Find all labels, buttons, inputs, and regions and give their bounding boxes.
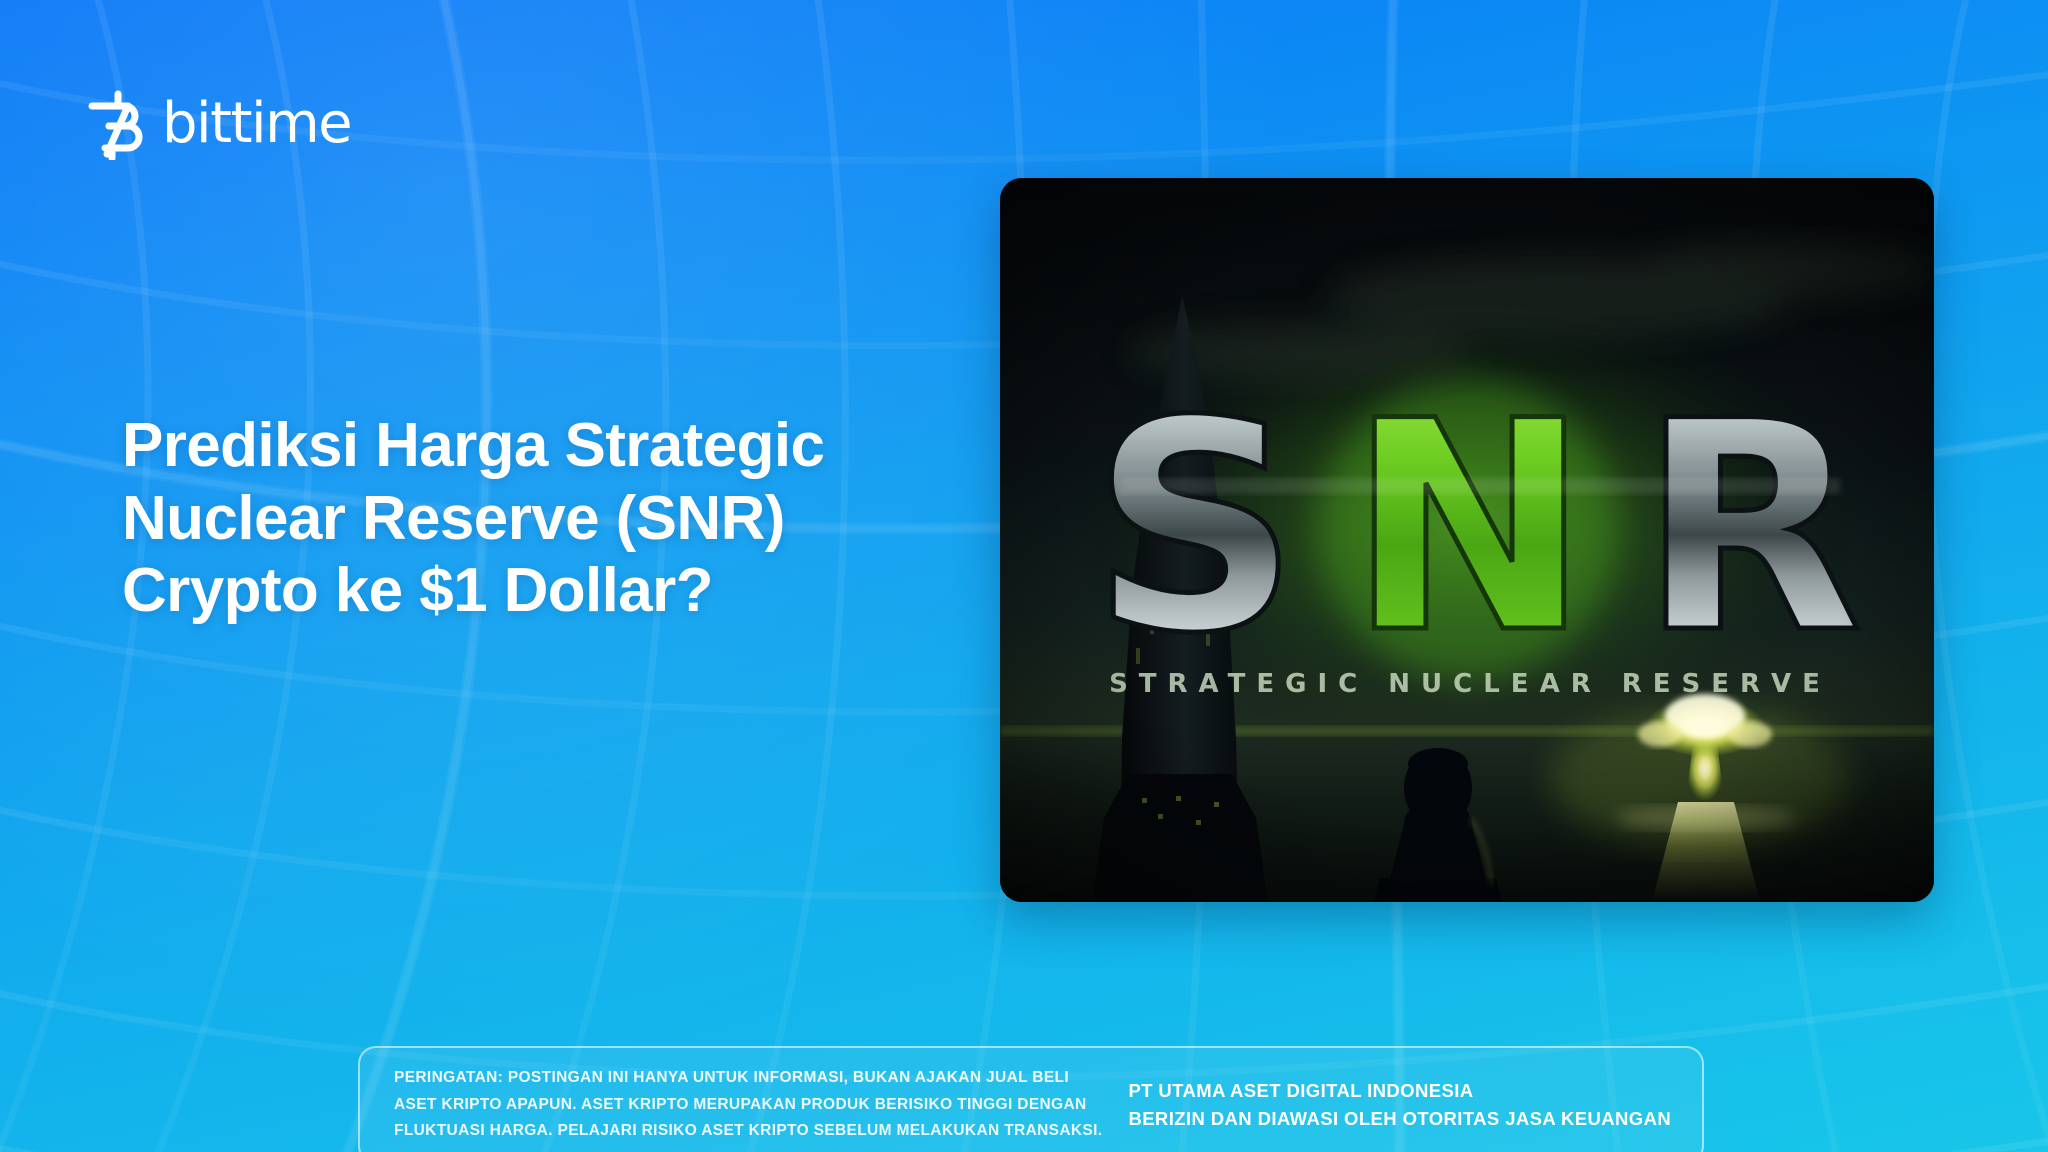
bittime-logo[interactable]: bittime (88, 88, 351, 160)
page-title: Prediksi Harga Strategic Nuclear Reserve… (122, 410, 922, 628)
license-line-1: PT UTAMA ASET DIGITAL INDONESIA (1128, 1077, 1671, 1105)
license-text: PT UTAMA ASET DIGITAL INDONESIA BERIZIN … (1128, 1077, 1671, 1133)
headline-line-2: Nuclear Reserve (SNR) (122, 483, 922, 556)
bittime-wordmark: bittime (162, 96, 351, 152)
disclaimer-line-2: ASET KRIPTO APAPUN. ASET KRIPTO MERUPAKA… (394, 1092, 1102, 1119)
license-line-2: BERIZIN DAN DIAWASI OLEH OTORITAS JASA K… (1128, 1105, 1671, 1133)
hero-image-card[interactable]: S N R STRATEGIC NUCLEAR RESERVE (1000, 178, 1934, 902)
headline-line-3: Crypto ke $1 Dollar? (122, 555, 922, 628)
footer-disclaimer-card: PERINGATAN: POSTINGAN INI HANYA UNTUK IN… (358, 1046, 1704, 1152)
risk-disclaimer-text: PERINGATAN: POSTINGAN INI HANYA UNTUK IN… (394, 1065, 1102, 1145)
bitcoin-b-icon (88, 88, 146, 160)
disclaimer-line-1: PERINGATAN: POSTINGAN INI HANYA UNTUK IN… (394, 1065, 1102, 1092)
headline-line-1: Prediksi Harga Strategic (122, 410, 922, 483)
promo-banner: bittime Prediksi Harga Strategic Nuclear… (0, 0, 2048, 1152)
disclaimer-line-3: FLUKTUASI HARGA. PELAJARI RISIKO ASET KR… (394, 1118, 1102, 1145)
